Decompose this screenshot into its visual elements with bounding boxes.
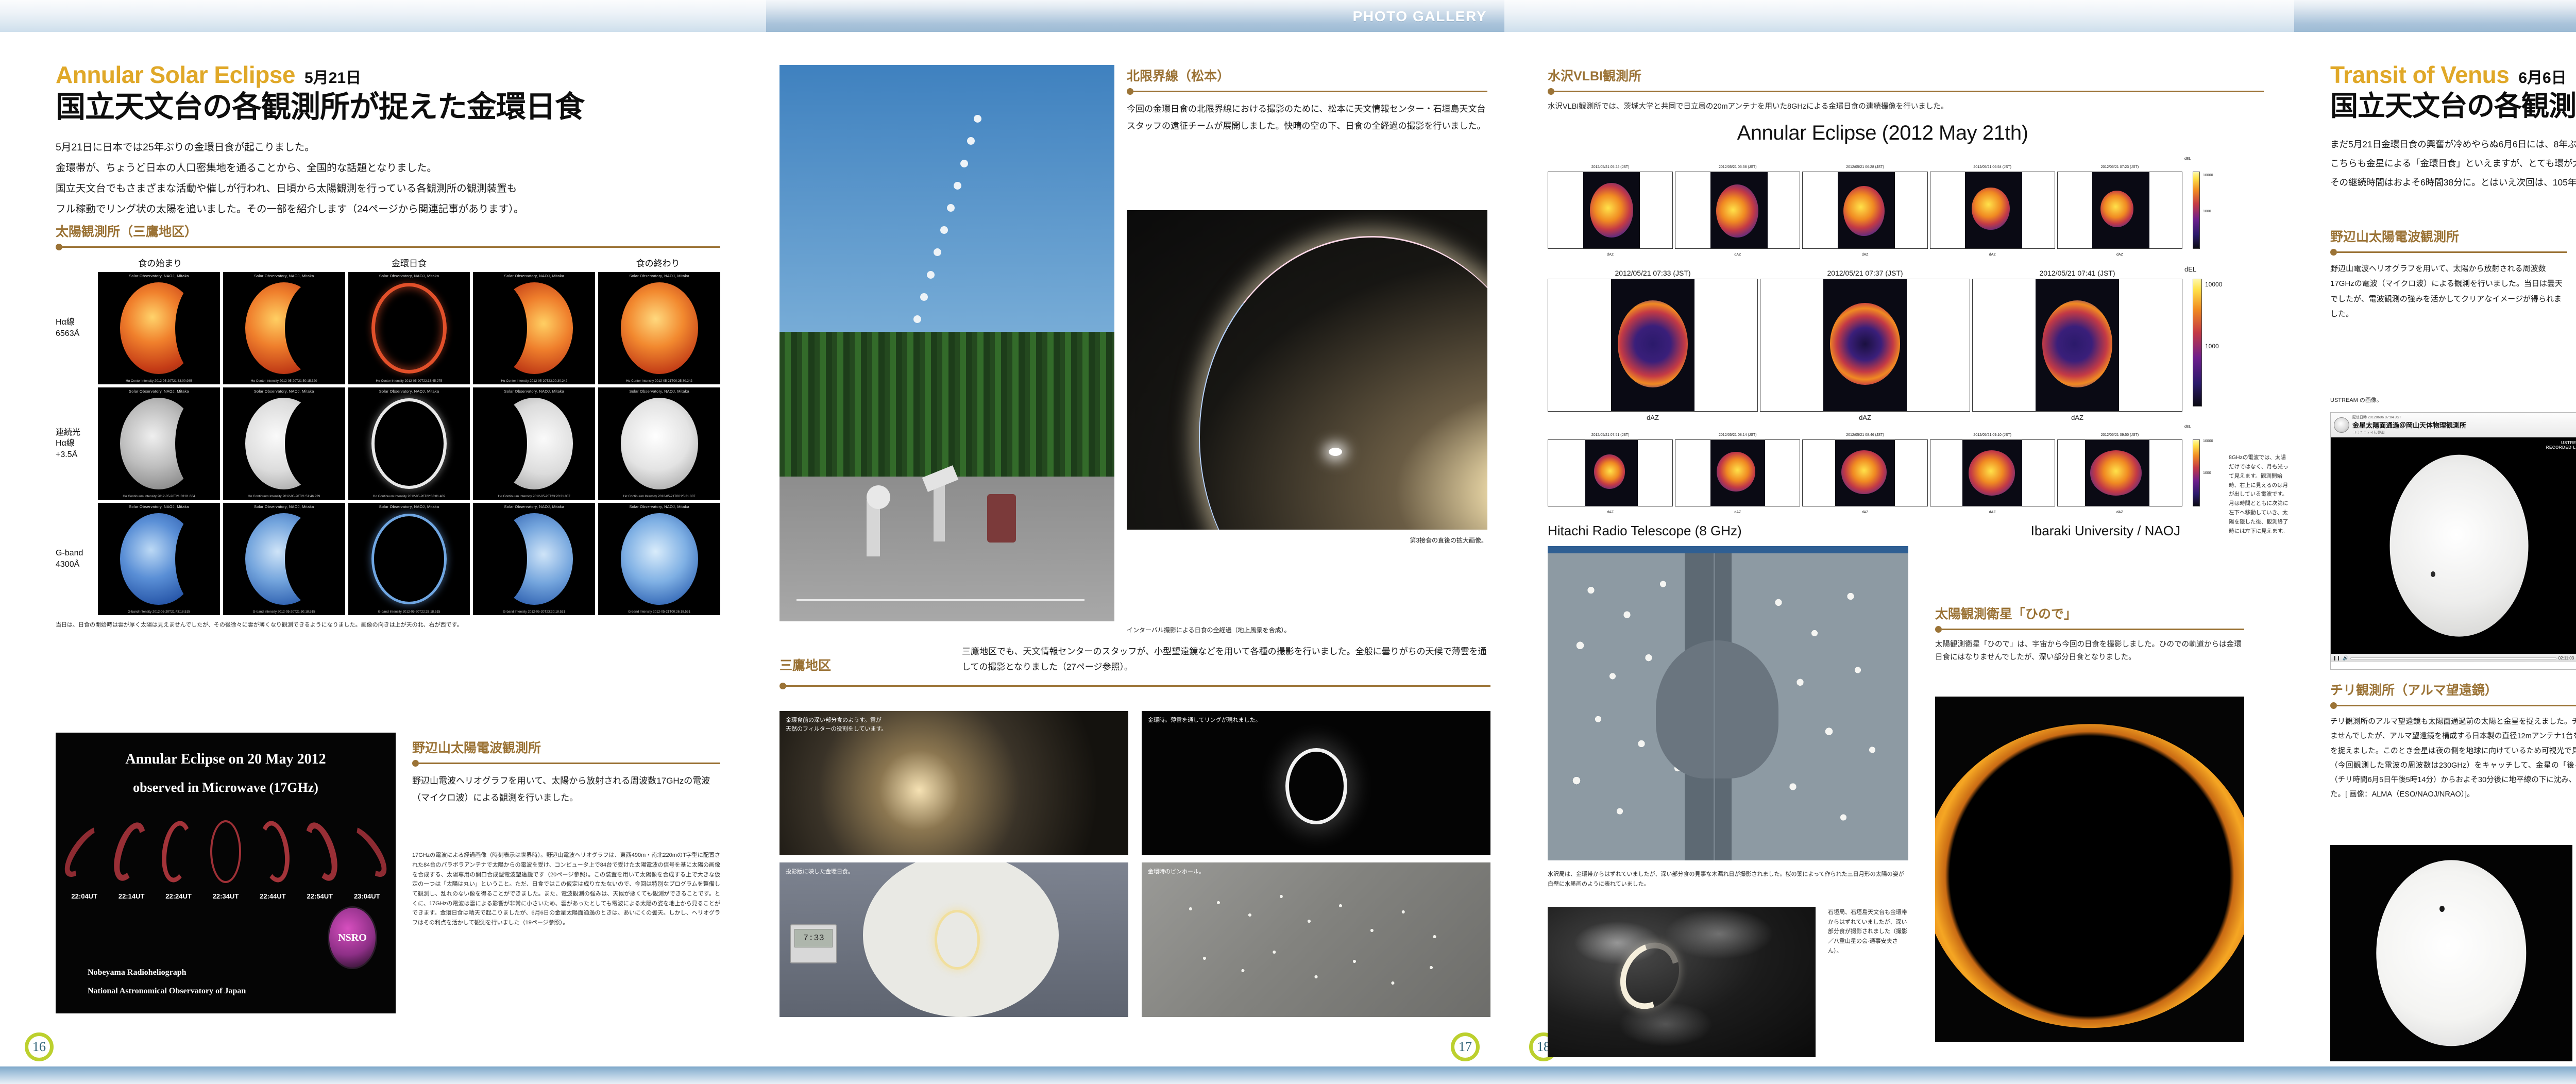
interval-eclipse-photo: [779, 65, 1114, 621]
eclipse-phase-annular: [210, 820, 241, 883]
hinode-body-18: 太陽観測衛星「ひので」は、宇宙から今回の日食を撮影しました。ひのでの軌道からは金…: [1935, 638, 2244, 664]
eclipse-phase: [339, 820, 394, 883]
rule-line: [786, 685, 1490, 687]
halpha-cells: Solar Observatory, NAOJ, Mitaka Hα Cente…: [98, 272, 720, 384]
page19-eyebrow-date: 6月6日: [2518, 70, 2566, 87]
matsumoto-heading: 北限界線（松本）: [1127, 66, 1487, 84]
mizusawa-heading: 水沢VLBI観測所: [1548, 66, 2264, 84]
photo-gallery-tag: PHOTO GALLERY: [1353, 8, 1487, 25]
vlbi-figure-title: Annular Eclipse (2012 May 21th): [1548, 122, 2217, 145]
page-number-17: 17: [1451, 1032, 1480, 1061]
time-label: 22:14UT: [118, 892, 145, 900]
lead-line: 金環帯が、ちょうど日本の人口密集地を通ることから、全国的な話題となりました。: [56, 158, 720, 179]
vlbi-panel-large: 2012/05/21 07:37 (JST) dAZ: [1760, 279, 1970, 412]
solar-observatory-section: 太陽観測所（三鷹地区） 食の始まり 金環日食 食の終わり Hα線 6563Å: [56, 222, 720, 630]
solar-cell: Solar Observatory, NAOJ, Mitaka Hα Conti…: [223, 387, 345, 500]
ustream-controls[interactable]: ❙❙ 🔊 02:11:03 ⟳ ⛶: [2331, 654, 2576, 662]
lead-line: こちらも金星による「金環日食」といえますが、とても環が大きくて、金星の見かけの移…: [2330, 154, 2576, 173]
ishigaki-crescent-photo: [1548, 907, 1816, 1057]
third-contact-caption: 第3接食の直後の拡大画像。: [1127, 536, 1487, 546]
nobeyama-note: 17GHzの電波による経過画像（時刻表示は世界時）。野辺山電波ヘリオグラフは、東…: [412, 851, 720, 928]
vlbi-row-3: 2012/05/21 07:51 (JST) dAZ 2012/05/21 08…: [1548, 431, 2217, 514]
ishigaki-venus-photo: [2330, 845, 2572, 1061]
clock-display: 7:33: [794, 929, 833, 947]
vlbi-panel: 2012/05/21 08:14 (JST) dAZ: [1675, 439, 1800, 506]
solar-cell: Solar Observatory, NAOJ, Mitaka G-band I…: [98, 503, 220, 615]
sun-disc: [2390, 455, 2529, 637]
time-label: 22:04UT: [71, 892, 97, 900]
vlbi-panel: 2012/05/21 09:50 (JST) dAZ: [2057, 439, 2182, 506]
nobeyama-text-block: 野辺山太陽電波観測所 野辺山電波ヘリオグラフを用いて、太陽から放射される周波数1…: [412, 738, 720, 928]
ustream-header: 配信日時 20120606 07:04 JST 金星太陽面通過＠岡山天体物理観測…: [2331, 413, 2576, 437]
komorebi-caption: 水沢局は、金環帯からはずれていましたが、深い部分食の見事な木漏れ日が撮影されまし…: [1548, 870, 1908, 889]
solar-grid-caption: 当日は、日食の開始時は雲が厚く太陽は見えませんでしたが、その後徐々に雲が薄くなり…: [56, 620, 720, 630]
bottom-band: [766, 1066, 1504, 1084]
time-label: 22:44UT: [260, 892, 286, 900]
page16-title: 国立天文台の各観測所が捉えた金環日食: [56, 91, 720, 124]
rule-line: [2337, 251, 2567, 253]
page16-lead: 5月21日に日本では25年ぶりの金環日食が起こりました。 金環帯が、ちょうど日本…: [56, 138, 720, 220]
poster-eclipse-sequence: [56, 818, 396, 885]
komorebi-photo: [1548, 546, 1908, 860]
rule-dot: [56, 244, 62, 250]
grid-row-gband: G-band 4300Å Solar Observatory, NAOJ, Mi…: [56, 503, 720, 615]
vlbi-figure: Annular Eclipse (2012 May 21th) 2012/05/…: [1548, 122, 2217, 529]
hinode-eclipse-photo: [1935, 697, 2244, 1042]
poster-title-line2: observed in Microwave (17GHz): [56, 780, 396, 795]
page16-eyebrow-date: 5月21日: [304, 70, 361, 87]
rule-line: [2337, 705, 2576, 706]
third-contact-closeup: [1127, 210, 1487, 530]
vlbi-panel: 2012/05/21 07:51 (JST) dAZ: [1548, 439, 1673, 506]
ustream-title: 金星太陽面通過＠岡山天体物理観測所: [2352, 420, 2466, 430]
nobeyama-venus-section: 野辺山太陽電波観測所 野辺山電波ヘリオグラフを用いて、太陽から放射される周波数1…: [2330, 227, 2567, 321]
rule-line: [419, 763, 720, 764]
ustream-subscribe[interactable]: コミュニティに参加: [2352, 430, 2466, 435]
poster-time-labels: 22:04UT 22:14UT 22:24UT 22:34UT 22:44UT …: [56, 892, 396, 900]
volume-icon[interactable]: 🔊: [2343, 655, 2348, 661]
photo-partial-through-cloud: 金環食前の深い部分食のようす。雲が 天然のフィルターの役割をしています。: [779, 711, 1128, 855]
vlbi-footer-left: Hitachi Radio Telescope (8 GHz): [1548, 523, 1742, 539]
vlbi-panel: 2012/05/21 05:56 (JST) dAZ: [1675, 172, 1800, 249]
vlbi-row-1: 2012/05/21 05:24 (JST) dAZ 2012/05/21 05…: [1548, 163, 2217, 256]
grid-row-halpha: Hα線 6563Å Solar Observatory, NAOJ, Mitak…: [56, 272, 720, 384]
solar-cell: Solar Observatory, NAOJ, Mitaka Hα Conti…: [598, 387, 720, 500]
progress-track[interactable]: [2350, 657, 2556, 659]
lead-line: その継続時間はおよそ6時間38分に。とはいえ次回は、105年後の2117年という…: [2330, 173, 2576, 192]
lead-line: まだ5月21日金環日食の興奮が冷めやらぬ6月6日には、8年ぶりとなる金星太陽面通…: [2330, 135, 2576, 154]
vlbi-panel-large: 2012/05/21 07:41 (JST) dAZ: [1972, 279, 2182, 412]
eclipse-phase: [108, 819, 152, 885]
magazine-spread: 16 Annular Solar Eclipse5月21日 国立天文台の各観測所…: [0, 0, 2576, 1084]
mitaka-photo-grid: 金環食前の深い部分食のようす。雲が 天然のフィルターの役割をしています。 金環時…: [779, 711, 1490, 1017]
time-label: 22:24UT: [165, 892, 192, 900]
row-label-continuum: 連続光 Hα線 +3.5Å: [56, 387, 98, 500]
ustream-label: USTREAM の画像。: [2330, 396, 2382, 405]
lead-line: 国立天文台でもさまざまな活動や催しが行われ、日頃から太陽観測を行っている各観測所…: [56, 179, 720, 199]
parking-lot: [779, 477, 1114, 621]
vlbi-colorbar-2: dEL 10000 1000: [2184, 265, 2217, 406]
solar-section-heading: 太陽観測所（三鷹地区）: [56, 222, 720, 240]
page-18: 18 水沢VLBI観測所 水沢VLBI観測所では、茨城大学と共同で日立局の20m…: [1504, 0, 2294, 1084]
section-rule: [1935, 626, 2244, 632]
continuum-cells: Solar Observatory, NAOJ, Mitaka Hα Conti…: [98, 387, 720, 500]
photo-pinhole-crescents: 金環時のピンホール。: [1142, 862, 1490, 1017]
section-rule: [1548, 88, 2264, 94]
vlbi-panel: 2012/05/21 07:23 (JST) dAZ: [2057, 172, 2182, 249]
solar-cell: Solar Observatory, NAOJ, Mitaka G-band I…: [473, 503, 595, 615]
solar-cell: Solar Observatory, NAOJ, Mitaka Hα Conti…: [348, 387, 470, 500]
col-header: [223, 256, 347, 269]
lead-line: 5月21日に日本では25年ぶりの金環日食が起こりました。: [56, 138, 720, 158]
vlbi-side-note: 8GHzの電波では、太陽だけではなく、月も光って見えます。観測開始時、右上に見え…: [2229, 453, 2291, 536]
bottom-band: [0, 1066, 766, 1084]
nobeyama-body: 野辺山電波ヘリオグラフを用いて、太陽から放射される周波数17GHzの電波（マイク…: [412, 772, 720, 806]
poster-title-line1: Annular Eclipse on 20 May 2012: [56, 751, 396, 768]
col-header: [471, 256, 596, 269]
nsro-badge: NSRO: [328, 906, 377, 969]
col-header: 金環日食: [347, 256, 471, 269]
eclipse-phase: [158, 819, 195, 885]
grid-column-headers: 食の始まり 金環日食 食の終わり: [98, 256, 720, 269]
vlbi-panel: 2012/05/21 06:28 (JST) dAZ: [1802, 172, 1927, 249]
top-band: [2294, 0, 2576, 32]
mitaka-section-head: 三鷹地区 三鷹地区でも、天文情報センターのスタッフが、小型望遠鏡などを用いて各種…: [779, 644, 1490, 695]
vlbi-panel: 2012/05/21 06:54 (JST) dAZ: [1930, 172, 2055, 249]
eclipse-phase: [57, 820, 112, 883]
solar-cell: Solar Observatory, NAOJ, Mitaka G-band I…: [598, 503, 720, 615]
chile-heading: チリ観測所（アルマ望遠鏡）: [2330, 680, 2576, 699]
page-19: PHOTO GALLERY 19 Transit of Venus6月6日 国立…: [2294, 0, 2576, 1084]
time-label: 23:04UT: [354, 892, 380, 900]
rule-line: [1133, 91, 1487, 92]
vlbi-colorbar-1: dEL 10000 1000: [2184, 163, 2217, 249]
ishigaki-photo-caption: 石垣局、石垣島天文台も金環帯からはずれていましたが、深い部分食が撮影されました（…: [1828, 908, 1910, 956]
section-rule: [2330, 702, 2576, 708]
bottom-band: [2294, 1066, 2576, 1084]
solar-cell: Solar Observatory, NAOJ, Mitaka G-band I…: [223, 503, 345, 615]
page16-eyebrow-row: Annular Solar Eclipse5月21日: [56, 61, 720, 89]
chile-section: チリ観測所（アルマ望遠鏡） チリ観測所のアルマ望遠鏡も太陽面通過前の太陽と金星を…: [2330, 680, 2576, 802]
rule-dot: [2330, 249, 2337, 256]
venus-dot: [2439, 906, 2445, 912]
solar-cell: Solar Observatory, NAOJ, Mitaka Hα Cente…: [348, 272, 470, 384]
poster-sig-2: National Astronomical Observatory of Jap…: [88, 987, 246, 996]
section-rule: [56, 244, 720, 250]
col-header: 食の始まり: [98, 256, 223, 269]
solar-image-grid: 食の始まり 金環日食 食の終わり Hα線 6563Å S: [56, 256, 720, 630]
rule-dot: [412, 760, 419, 767]
section-rule: [1127, 88, 1487, 94]
sun-disc: [2376, 860, 2526, 1046]
vlbi-panel: 2012/05/21 08:46 (JST) dAZ: [1802, 439, 1927, 506]
rule-line: [62, 246, 720, 248]
page19-eyebrow-row: Transit of Venus6月6日: [2330, 61, 2576, 89]
nobeyama-heading: 野辺山太陽電波観測所: [412, 738, 720, 756]
page-number-16: 16: [25, 1032, 54, 1061]
vlbi-panel: 2012/05/21 05:24 (JST) dAZ: [1548, 172, 1673, 249]
interval-photo-caption: インターバル撮影による日食の全経過（地上風景を合成）。: [1127, 625, 1395, 635]
photo-annular-ring-thin-cloud: 金環時。薄雲を通してリングが現れました。: [1142, 711, 1490, 855]
solar-cell: Solar Observatory, NAOJ, Mitaka G-band I…: [348, 503, 470, 615]
solar-cell: Solar Observatory, NAOJ, Mitaka Hα Cente…: [473, 272, 595, 384]
ustream-channel-avatar: [2334, 417, 2349, 433]
hinode-section-18: 太陽観測衛星「ひので」 太陽観測衛星「ひので」は、宇宙から今回の日食を撮影しまし…: [1935, 604, 2244, 664]
bottom-band: [1504, 1066, 2294, 1084]
section-rule: [412, 760, 720, 766]
mitaka-body: 三鷹地区でも、天文情報センターのスタッフが、小型望遠鏡などを用いて各種の撮影を行…: [962, 644, 1490, 675]
rule-dot: [1127, 88, 1133, 95]
ustream-watermark: USTREAM RECORDED LIVE: [2546, 441, 2576, 450]
ustream-date: 配信日時 20120606 07:04 JST: [2352, 415, 2466, 420]
page-16: 16 Annular Solar Eclipse5月21日 国立天文台の各観測所…: [0, 0, 766, 1084]
chile-body: チリ観測所のアルマ望遠鏡も太陽面通過前の太陽と金星を捉えました。チリはちょうど夜…: [2330, 715, 2576, 802]
rule-dot: [2330, 702, 2337, 709]
section-rule: [2330, 249, 2567, 255]
tree-line: [779, 332, 1114, 477]
solar-cell: Solar Observatory, NAOJ, Mitaka Hα Conti…: [98, 387, 220, 500]
rule-dot: [779, 683, 786, 689]
eclipse-phase: [299, 819, 344, 885]
top-band: [0, 0, 766, 32]
mizusawa-body: 水沢VLBI観測所では、茨城大学と共同で日立局の20mアンテナを用いた8GHzに…: [1548, 100, 2264, 113]
row-label-halpha: Hα線 6563Å: [56, 272, 98, 384]
ustream-video[interactable]: USTREAM RECORDED LIVE: [2331, 437, 2576, 654]
photo-projection-board: 7:33 投影版に映した金環日食。: [779, 862, 1128, 1017]
lead-line: フル稼動でリング状の太陽を追いました。その一部を紹介します（24ページから関連記…: [56, 199, 720, 220]
rule-dot: [1548, 88, 1554, 95]
nobeyama-venus-heading: 野辺山太陽電波観測所: [2330, 227, 2567, 245]
top-band: [1504, 0, 2294, 32]
gband-cells: Solar Observatory, NAOJ, Mitaka G-band I…: [98, 503, 720, 615]
matsumoto-section: 北限界線（松本） 今回の金環日食の北限界線における撮影のために、松本に天文情報セ…: [1127, 66, 1487, 134]
page19-lead: まだ5月21日金環日食の興奮が冷めやらぬ6月6日には、8年ぶりとなる金星太陽面通…: [2330, 135, 2576, 192]
section-rule: [779, 683, 1490, 689]
mitaka-heading: 三鷹地区: [779, 655, 944, 674]
time-label: 22:54UT: [307, 892, 333, 900]
ustream-player[interactable]: 配信日時 20120606 07:04 JST 金星太陽面通過＠岡山天体物理観測…: [2330, 412, 2576, 670]
rule-line: [1554, 91, 2264, 92]
solar-cell: Solar Observatory, NAOJ, Mitaka Hα Conti…: [473, 387, 595, 500]
eclipse-phase: [256, 819, 293, 885]
rule-dot: [1935, 626, 1942, 633]
nobeyama-venus-body: 野辺山電波ヘリオグラフを用いて、太陽から放射される周波数17GHzの電波（マイク…: [2330, 261, 2567, 321]
page-17: PHOTO GALLERY 17: [766, 0, 1504, 1084]
vlbi-panel: 2012/05/21 09:10 (JST) dAZ: [1930, 439, 2055, 506]
time-label: 22:34UT: [213, 892, 239, 900]
poster-sig-1: Nobeyama Radioheliograph: [88, 968, 187, 977]
solar-cell: Solar Observatory, NAOJ, Mitaka Hα Cente…: [223, 272, 345, 384]
vlbi-colorbar-3: dEL 10000 1000: [2184, 431, 2217, 506]
solar-cell: Solar Observatory, NAOJ, Mitaka Hα Cente…: [598, 272, 720, 384]
vlbi-footer-right: Ibaraki University / NAOJ: [2031, 523, 2180, 539]
hinode-heading-18: 太陽観測衛星「ひので」: [1935, 604, 2244, 622]
col-header: 食の終わり: [596, 256, 720, 269]
pause-icon[interactable]: ❙❙: [2333, 655, 2341, 661]
page16-eyebrow: Annular Solar Eclipse: [56, 61, 295, 89]
row-label-gband: G-band 4300Å: [56, 503, 98, 615]
vlbi-panel-large: 2012/05/21 07:33 (JST) dAZ: [1548, 279, 1758, 412]
nobeyama-microwave-poster: Annular Eclipse on 20 May 2012 observed …: [56, 733, 396, 1013]
grid-row-continuum: 連続光 Hα線 +3.5Å Solar Observatory, NAOJ, M…: [56, 387, 720, 500]
matsumoto-body: 今回の金環日食の北限界線における撮影のために、松本に天文情報センター・石垣島天文…: [1127, 100, 1487, 134]
mizusawa-section: 水沢VLBI観測所 水沢VLBI観測所では、茨城大学と共同で日立局の20mアンテ…: [1548, 66, 2264, 113]
page19-eyebrow: Transit of Venus: [2330, 61, 2509, 89]
vlbi-row-2: 2012/05/21 07:33 (JST) dAZ 2012/05/21 07…: [1548, 265, 2217, 420]
rule-line: [1942, 629, 2244, 630]
page19-title: 国立天文台の各観測所が捉えた金星太陽面通過: [2330, 91, 2576, 122]
solar-cell: Solar Observatory, NAOJ, Mitaka Hα Cente…: [98, 272, 220, 384]
ustream-time: 02:11:03: [2558, 656, 2574, 660]
